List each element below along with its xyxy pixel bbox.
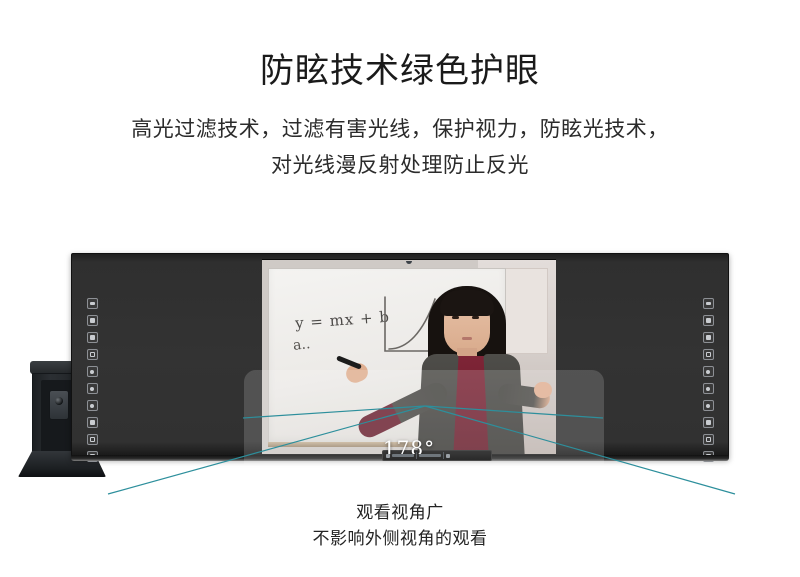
power-icon[interactable] xyxy=(87,400,98,411)
volume-up-icon-right[interactable] xyxy=(703,366,714,377)
caption-line-2: 不影响外侧视角的观看 xyxy=(0,526,800,552)
interactive-display-panel[interactable]: y = mx + b a.. -b xyxy=(71,253,729,459)
classroom-scene: y = mx + b a.. -b xyxy=(262,260,556,454)
teacher-eye-right xyxy=(472,316,479,319)
brightness-down-icon[interactable] xyxy=(87,332,98,343)
freeze-icon[interactable] xyxy=(87,349,98,360)
grid-icon[interactable] xyxy=(87,434,98,445)
teacher-eye-left xyxy=(452,316,459,319)
grid-icon-right[interactable] xyxy=(703,434,714,445)
whiteboard-equation-secondary: a.. xyxy=(292,336,311,354)
teacher-pointing-hand xyxy=(534,382,552,398)
page-subtitle: 高光过滤技术，过滤有害光线，保护视力，防眩光技术， 对光线漫反射处理防止反光 xyxy=(0,93,800,185)
subtitle-line-2: 对光线漫反射处理防止反光 xyxy=(0,147,800,184)
page-title: 防眩技术绿色护眼 xyxy=(0,0,800,93)
brightness-up-icon-right[interactable] xyxy=(703,315,714,326)
right-key-cluster[interactable] xyxy=(700,298,716,462)
source-icon[interactable] xyxy=(87,298,98,309)
caption-line-1: 观看视角广 xyxy=(0,500,800,526)
camera-module-icon xyxy=(49,390,69,420)
display-screen[interactable]: y = mx + b a.. -b xyxy=(262,259,556,454)
viewing-angle-label: 178° xyxy=(262,436,556,454)
teacher-figure xyxy=(402,282,548,454)
source-icon-right[interactable] xyxy=(703,298,714,309)
headline-block: 防眩技术绿色护眼 高光过滤技术，过滤有害光线，保护视力，防眩光技术， 对光线漫反… xyxy=(0,0,800,184)
menu-icon[interactable] xyxy=(87,417,98,428)
product-caption: 观看视角广 不影响外侧视角的观看 xyxy=(0,500,800,553)
brightness-down-icon-right[interactable] xyxy=(703,332,714,343)
osd-control-strip[interactable] xyxy=(419,454,441,457)
menu-icon-right[interactable] xyxy=(703,417,714,428)
subtitle-line-1: 高光过滤技术，过滤有害光线，保护视力，防眩光技术， xyxy=(0,111,800,148)
teacher-fringe xyxy=(440,290,494,316)
teacher-mouth xyxy=(462,337,472,340)
volume-down-icon[interactable] xyxy=(87,383,98,394)
power-icon-right[interactable] xyxy=(703,400,714,411)
volume-down-icon-right[interactable] xyxy=(703,383,714,394)
volume-up-icon[interactable] xyxy=(87,366,98,377)
freeze-icon-right[interactable] xyxy=(703,349,714,360)
osd-label-strip xyxy=(392,454,414,457)
osd-app-icon[interactable] xyxy=(386,454,390,458)
product-photo: y = mx + b a.. -b xyxy=(0,236,800,496)
left-key-cluster[interactable] xyxy=(84,298,100,462)
brightness-up-icon[interactable] xyxy=(87,315,98,326)
osd-close-icon[interactable] xyxy=(446,454,450,458)
